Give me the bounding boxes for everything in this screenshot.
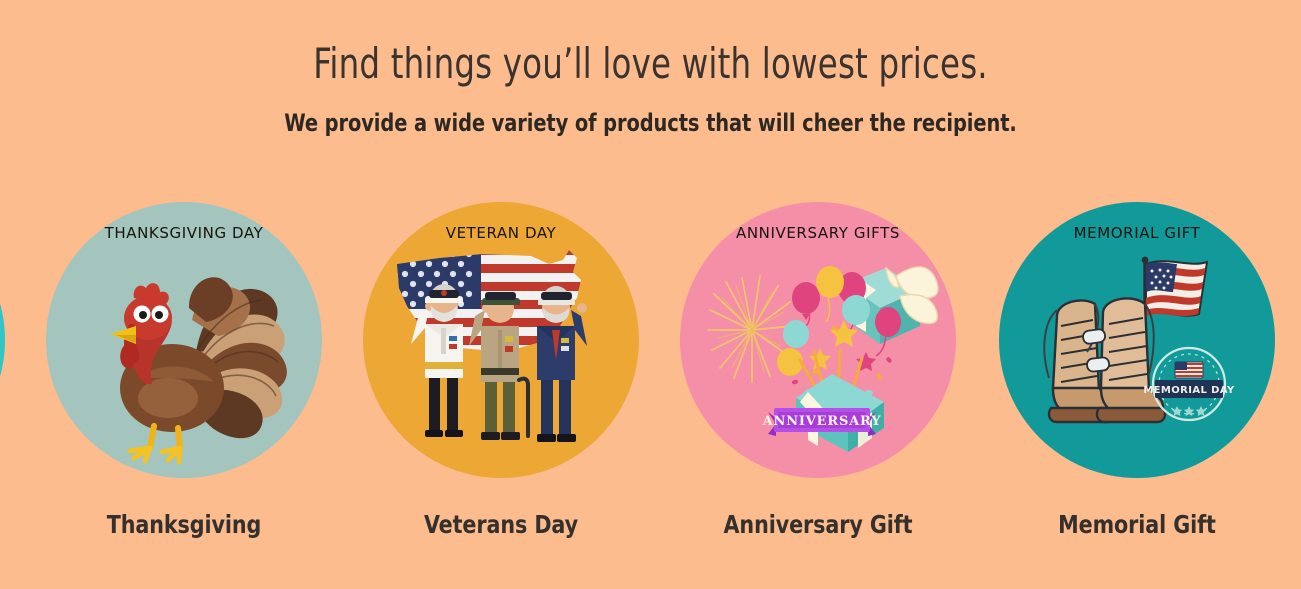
category-circle-memorial[interactable]: MEMORIAL GIFT <box>999 202 1275 478</box>
circle-title-memorial: MEMORIAL GIFT <box>999 224 1275 242</box>
anniversary-ribbon-label: ANNIVERSARY <box>762 414 882 429</box>
category-caption-anniversary: Anniversary Gift <box>691 510 945 539</box>
category-card-anniversary[interactable]: ANNIVERSARY GIFTS <box>680 202 956 478</box>
category-circle-thanksgiving[interactable]: THANKSGIVING DAY <box>46 202 322 478</box>
promo-section: Find things you’ll love with lowest pric… <box>0 0 1301 589</box>
category-caption-veterans-day: Veterans Day <box>374 510 628 539</box>
circle-title-veterans-day: VETERAN DAY <box>363 224 639 242</box>
category-caption-thanksgiving: Thanksgiving <box>57 510 311 539</box>
usa-flag <box>1146 261 1207 316</box>
saluting-veterans-icon <box>363 202 639 478</box>
category-circle-anniversary[interactable]: ANNIVERSARY GIFTS <box>680 202 956 478</box>
category-card-thanksgiving[interactable]: THANKSGIVING DAY <box>46 202 322 478</box>
turkey-icon <box>46 202 322 478</box>
memorial-boots-icon: MEMORIAL DAY <box>999 202 1275 478</box>
category-circle-veterans-day[interactable]: VETERAN DAY <box>363 202 639 478</box>
carousel-peek-previous-item[interactable] <box>0 202 5 478</box>
anniversary-ribbon: ANNIVERSARY <box>762 408 882 436</box>
circle-title-anniversary: ANNIVERSARY GIFTS <box>680 224 956 242</box>
memorial-day-badge-label: MEMORIAL DAY <box>1143 385 1235 396</box>
category-card-memorial[interactable]: MEMORIAL GIFT <box>999 202 1275 478</box>
circle-title-thanksgiving: THANKSGIVING DAY <box>46 224 322 242</box>
category-card-veterans-day[interactable]: VETERAN DAY <box>363 202 639 478</box>
veteran-airforce <box>537 286 587 442</box>
category-carousel[interactable]: THANKSGIVING DAY <box>0 0 1301 589</box>
gift-explosion-icon: ANNIVERSARY <box>680 202 956 478</box>
category-caption-memorial: Memorial Gift <box>1010 510 1264 539</box>
